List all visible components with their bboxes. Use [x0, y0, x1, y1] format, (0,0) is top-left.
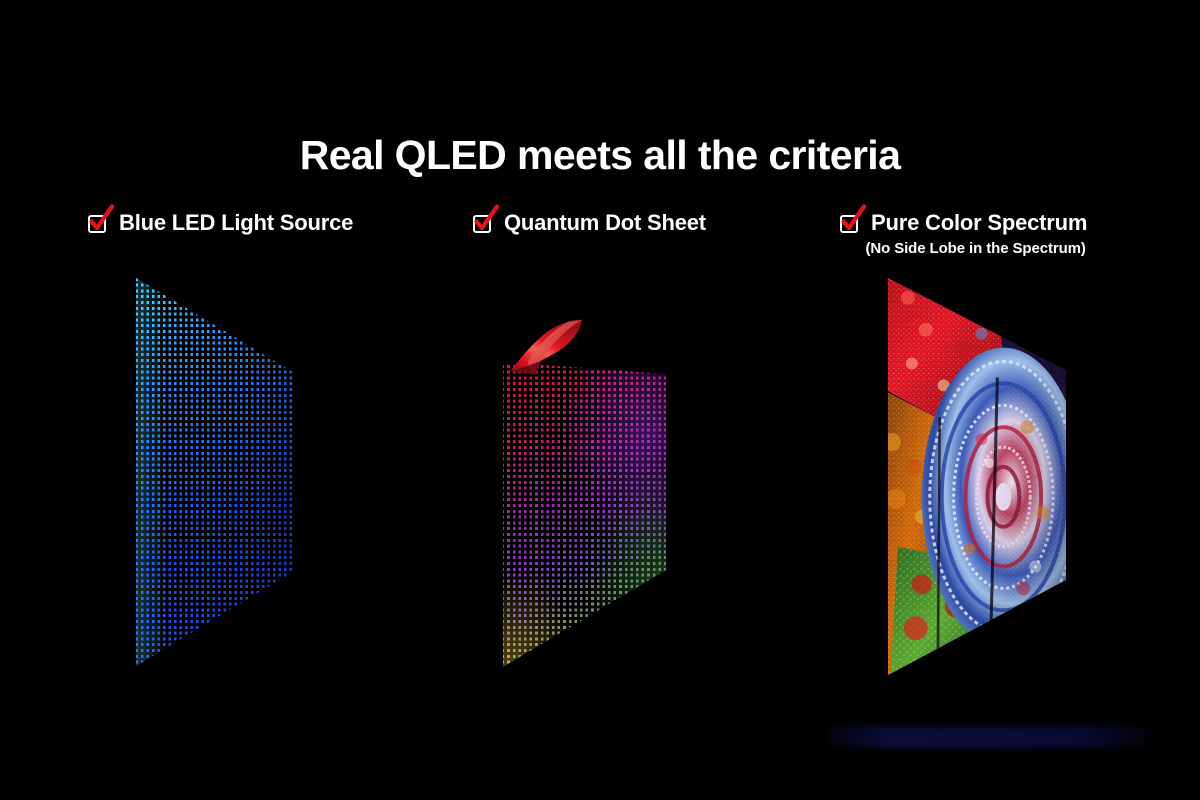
pure-color-spectrum-panel: [880, 270, 1075, 690]
red-checkmark-icon: [840, 213, 862, 235]
criterion-quantum-dot-sheet: Quantum Dot Sheet: [473, 209, 706, 237]
bottom-glow-band: [820, 726, 1160, 748]
quantum-dot-sheet-panel: [496, 330, 676, 680]
red-checkmark-icon: [473, 213, 495, 235]
criterion-label: Blue LED Light Source: [119, 209, 353, 237]
blue-led-grid-panel: [130, 272, 305, 672]
criterion-head: Pure Color Spectrum: [840, 209, 1087, 237]
slide-canvas: Real QLED meets all the criteria: [0, 0, 1200, 800]
criterion-blue-led-light-source: Blue LED Light Source: [88, 209, 353, 237]
criterion-pure-color-spectrum: Pure Color Spectrum (No Side Lobe in the…: [840, 209, 1087, 259]
checkmark-glyph: [87, 208, 114, 235]
criterion-label: Quantum Dot Sheet: [504, 209, 706, 237]
criterion-sublabel: (No Side Lobe in the Spectrum): [841, 239, 1085, 259]
checkmark-glyph: [839, 208, 866, 235]
red-checkmark-icon: [88, 213, 110, 235]
photo-panel-shading: [880, 270, 1075, 690]
criterion-head: Quantum Dot Sheet: [473, 209, 706, 237]
checkmark-glyph: [472, 208, 499, 235]
page-title: Real QLED meets all the criteria: [0, 131, 1200, 179]
criterion-head: Blue LED Light Source: [88, 209, 353, 237]
criterion-label: Pure Color Spectrum: [871, 209, 1087, 237]
blue-panel-shading: [130, 272, 305, 672]
quantum-dot-panel-shading: [496, 330, 676, 680]
